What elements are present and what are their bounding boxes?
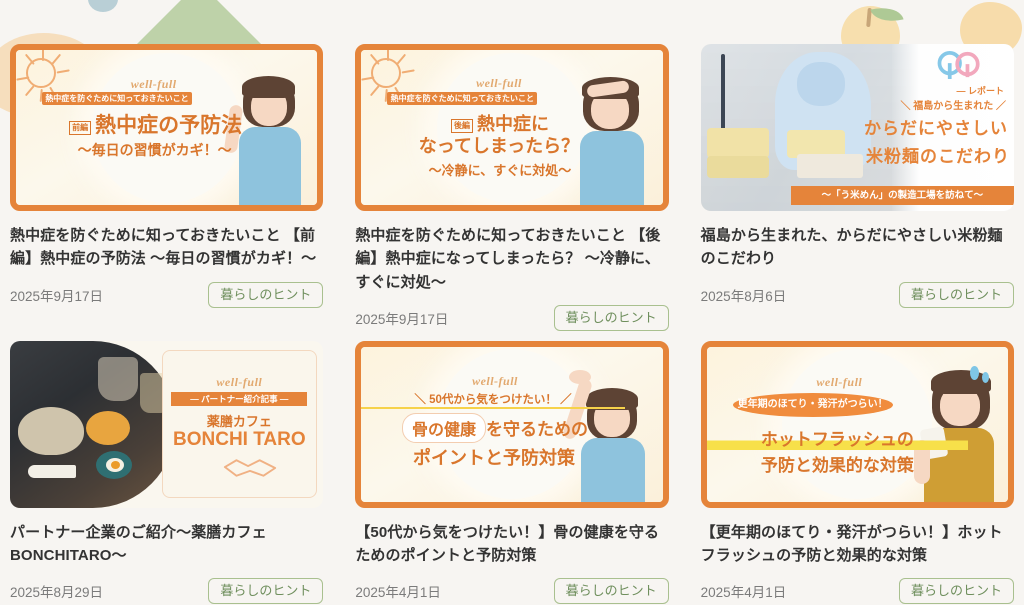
card-thumbnail[interactable]: well-full ― パートナー紹介記事 ― 薬膳カフェ BONCHI TAR…	[10, 341, 323, 508]
card-meta: 2025年4月1日 暮らしのヒント	[701, 578, 1014, 604]
article-card[interactable]: well-full 熱中症を防ぐために知っておきたいこと 前編熱中症の予防法 〜…	[10, 44, 323, 331]
card-thumbnail[interactable]: ― レポート ＼ 福島から生まれた ／ からだにやさしい 米粉麺のこだわり 〜「…	[701, 44, 1014, 211]
handshake-icon	[221, 455, 279, 481]
thumb-headline: を守るための	[486, 420, 588, 439]
card-date: 2025年8月29日	[10, 581, 103, 601]
card-meta: 2025年9月17日 暮らしのヒント	[355, 305, 668, 331]
card-tag-badge[interactable]: 暮らしのヒント	[899, 282, 1014, 308]
thumb-headline: 熱中症に	[477, 114, 549, 134]
thumb-ribbon-text: ― パートナー紹介記事 ―	[171, 392, 307, 406]
thumb-brand-text: well-full	[169, 375, 309, 390]
thumb-brand-text: well-full	[361, 76, 662, 91]
scale-device	[797, 154, 863, 178]
thumb-badge: 後編	[451, 119, 473, 133]
card-meta: 2025年8月29日 暮らしのヒント	[10, 578, 323, 604]
card-title[interactable]: 【更年期のほてり・発汗がつらい！】ホットフラッシュの予防と効果的な対策	[701, 521, 1014, 568]
card-grid: well-full 熱中症を防ぐために知っておきたいこと 前編熱中症の予防法 〜…	[0, 0, 1024, 604]
card-meta: 2025年4月1日 暮らしのヒント	[355, 578, 668, 604]
thumb-headline-2: ポイントと予防対策	[361, 444, 626, 470]
article-card[interactable]: well-full 更年期のほてり・発汗がつらい！ ホットフラッシュの 予防と効…	[701, 341, 1014, 605]
card-tag-badge[interactable]: 暮らしのヒント	[208, 282, 323, 308]
card-tag-badge[interactable]: 暮らしのヒント	[208, 578, 323, 604]
thumb-headline: ホットフラッシュの	[707, 425, 968, 450]
thumb-brand-text: well-full	[361, 374, 662, 389]
card-tag-badge[interactable]: 暮らしのヒント	[899, 578, 1014, 604]
card-meta: 2025年8月6日 暮らしのヒント	[701, 282, 1014, 308]
thumb-headline-2: BONCHI TARO	[169, 429, 309, 451]
cp-loop-logo-icon	[932, 49, 988, 81]
egg-yolk	[111, 461, 120, 469]
card-date: 2025年9月17日	[355, 308, 448, 328]
article-card[interactable]: well-full 熱中症を防ぐために知っておきたいこと 後編熱中症に なってし…	[355, 44, 668, 331]
spoon	[28, 465, 76, 478]
card-thumbnail[interactable]: well-full 熱中症を防ぐために知っておきたいこと 後編熱中症に なってし…	[355, 44, 668, 211]
article-grid-page: well-full 熱中症を防ぐために知っておきたいこと 前編熱中症の予防法 〜…	[0, 0, 1024, 605]
card-date: 2025年8月6日	[701, 285, 787, 305]
teapot	[98, 357, 138, 401]
card-title[interactable]: 福島から生まれた、からだにやさしい米粉麺のこだわり	[701, 224, 1014, 271]
thumb-brand-text: well-full	[707, 375, 1008, 390]
thumb-headline: からだにやさしい	[864, 114, 1008, 139]
thumb-headline-2: 予防と効果的な対策	[707, 451, 968, 476]
thumb-ribbon-text: 熱中症を防ぐために知っておきたいこと	[387, 92, 537, 105]
card-thumbnail[interactable]: well-full 更年期のほてり・発汗がつらい！ ホットフラッシュの 予防と効…	[701, 341, 1014, 508]
thumb-headline: 熱中症の予防法	[95, 114, 242, 137]
thumb-badge: 前編	[69, 121, 91, 135]
thumb-ribbon-text: 〜「う米めん」の製造工場を訪ねて〜	[791, 186, 1014, 205]
thumb-eyebrow: ＼ 福島から生まれた ／	[900, 97, 1006, 112]
thumb-ribbon-text: 熱中症を防ぐために知っておきたいこと	[42, 92, 192, 105]
thumb-headline: 薬膳カフェ	[169, 411, 309, 430]
card-meta: 2025年9月17日 暮らしのヒント	[10, 282, 323, 308]
card-tag-badge[interactable]: 暮らしのヒント	[554, 578, 669, 604]
crate-1	[707, 128, 769, 158]
thumb-eyebrow: ＼ 50代から気をつけたい！ ／	[361, 391, 624, 409]
thumb-headline-2: なってしまったら？	[361, 132, 636, 158]
card-title[interactable]: パートナー企業のご紹介〜薬膳カフェBONCHITARO〜	[10, 521, 323, 568]
thumb-badge-bone: 骨の健康	[402, 413, 486, 443]
crate-2	[707, 156, 769, 178]
soup-bowl	[86, 411, 130, 445]
card-date: 2025年9月17日	[10, 285, 103, 305]
card-date: 2025年4月1日	[355, 581, 441, 601]
article-card[interactable]: well-full ＼ 50代から気をつけたい！ ／ 骨の健康を守るための ポイ…	[355, 341, 668, 605]
card-tag-badge[interactable]: 暮らしのヒント	[554, 305, 669, 331]
thumb-headline-2: 米粉麺のこだわり	[866, 142, 1010, 167]
thumb-subheadline: 〜冷静に、すぐに対処〜	[361, 160, 638, 179]
article-card[interactable]: well-full ― パートナー紹介記事 ― 薬膳カフェ BONCHI TAR…	[10, 341, 323, 605]
thumb-brand-text: well-full	[16, 77, 317, 92]
thumb-subheadline: 〜毎日の習慣がカギ！〜	[16, 140, 293, 160]
thumb-speech-bubble: 更年期のほてり・発汗がつらい！	[733, 393, 893, 417]
worker-hood	[797, 62, 845, 106]
card-thumbnail[interactable]: well-full 熱中症を防ぐために知っておきたいこと 前編熱中症の予防法 〜…	[10, 44, 323, 211]
card-date: 2025年4月1日	[701, 581, 787, 601]
card-title[interactable]: 熱中症を防ぐために知っておきたいこと 【前編】熱中症の予防法 〜毎日の習慣がカギ…	[10, 224, 323, 271]
rice-bowl	[18, 407, 84, 455]
thumb-kicker: ― レポート	[956, 84, 1004, 97]
card-title[interactable]: 熱中症を防ぐために知っておきたいこと 【後編】熱中症になってしまったら？ 〜冷静…	[355, 224, 668, 294]
card-thumbnail[interactable]: well-full ＼ 50代から気をつけたい！ ／ 骨の健康を守るための ポイ…	[355, 341, 668, 508]
card-title[interactable]: 【50代から気をつけたい！】骨の健康を守るためのポイントと予防対策	[355, 521, 668, 568]
article-card[interactable]: ― レポート ＼ 福島から生まれた ／ からだにやさしい 米粉麺のこだわり 〜「…	[701, 44, 1014, 331]
